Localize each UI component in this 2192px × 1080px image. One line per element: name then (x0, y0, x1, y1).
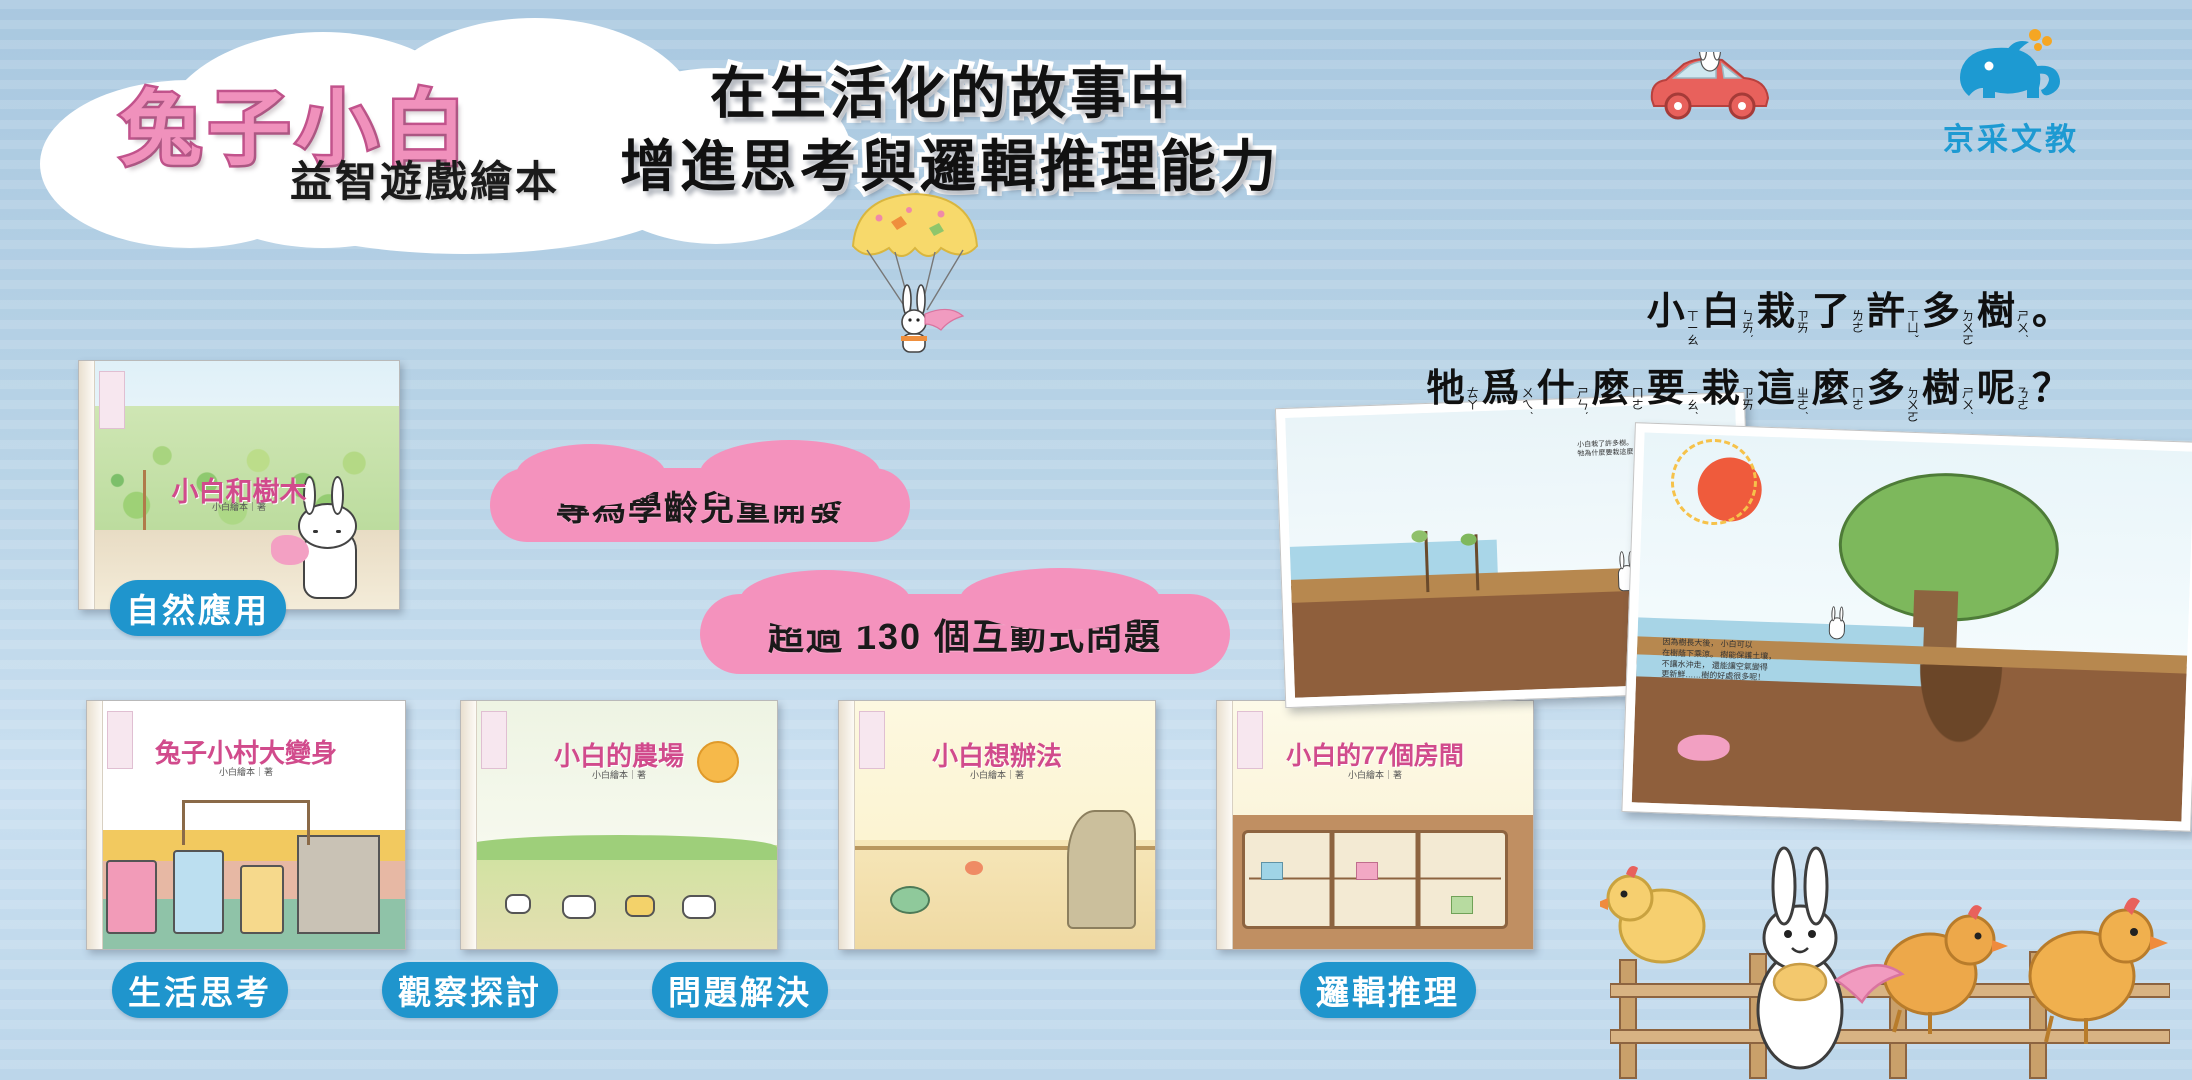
ruby-base: 爲 (1482, 370, 1520, 408)
badge-farm: 觀察探討 (382, 962, 558, 1018)
feature-bubble-1-label: 專為學齡兒童開發 (556, 481, 844, 530)
ruby-char: ？ (2032, 368, 2070, 410)
zhuyin-annotation: ㄕㄨˋ (2017, 310, 2029, 347)
badge-village: 生活思考 (112, 962, 288, 1018)
chicken-icon (2000, 880, 2170, 1050)
badge-rooms: 邏輯推理 (1300, 962, 1476, 1018)
book-cover-farm[interactable]: 小白的農場 小白繪本｜著 (460, 700, 778, 950)
ruby-char: 樹ㄕㄨˋ (1977, 293, 2029, 351)
ruby-char: 樹ㄕㄨˋ (1922, 370, 1974, 428)
zhuyin-annotation: ㄇㄜ (1852, 387, 1864, 411)
inner-page-caption: 因為樹長大後， 小白可以 在樹蔭下乘涼。 樹能保護土壤， 不讓水沖走， 還能讓空… (1661, 637, 1777, 684)
feature-bubble-1: 專為學齡兒童開發 (490, 468, 910, 542)
book-title: 小白的77個房間 (1217, 736, 1533, 772)
inner-page-art (1632, 433, 2192, 822)
page-subtitle: 益智遊戲繪本 (290, 148, 560, 209)
question-text: 小ㄒㄧㄠ白ㄅㄞˊ栽ㄗㄞ了ㄌㄜ許ㄒㄩˇ多ㄉㄨㄛ樹ㄕㄨˋ。 牠ㄊㄚ爲ㄨㄟˋ什ㄕㄣˊ麼… (1000, 280, 2070, 433)
book-author: 小白繪本｜著 (1217, 768, 1533, 781)
ruby-base: 麼 (1812, 370, 1850, 408)
question-line-2: 牠ㄊㄚ爲ㄨㄟˋ什ㄕㄣˊ麼ㄇㄜ要ㄧㄠˋ栽ㄗㄞ這ㄓㄜˋ麼ㄇㄜ多ㄉㄨㄛ樹ㄕㄨˋ呢ㄋㄜ？ (1000, 357, 2070, 428)
feature-bubble-2: 超過 130 個互動式問題 (700, 594, 1230, 674)
ruby-base: 什 (1537, 370, 1575, 408)
ruby-base: 樹 (1977, 293, 2015, 331)
zhuyin-annotation: ㄒㄩˇ (1907, 310, 1919, 347)
zhuyin-annotation: ㄨㄟˋ (1522, 387, 1534, 424)
ruby-base: 樹 (1922, 370, 1960, 408)
book-author: 小白繪本｜著 (79, 500, 399, 513)
ruby-char: 麼ㄇㄜ (1592, 370, 1644, 415)
ruby-base: 白 (1702, 293, 1740, 331)
promotional-banner: 兔子小白 益智遊戲繪本 在生活化的故事中 增進思考與邏輯推理能力 京采文教 (0, 0, 2192, 1080)
ruby-char: 呢ㄋㄜ (1977, 370, 2029, 415)
ruby-base: 栽 (1757, 293, 1795, 331)
ruby-char: 白ㄅㄞˊ (1702, 293, 1754, 351)
ruby-char: 要ㄧㄠˋ (1647, 370, 1699, 428)
zhuyin-annotation: ㄇㄜ (1632, 387, 1644, 411)
zhuyin-annotation: ㄊㄚ (1467, 387, 1479, 411)
ruby-base: 麼 (1592, 370, 1630, 408)
question-line-1: 小ㄒㄧㄠ白ㄅㄞˊ栽ㄗㄞ了ㄌㄜ許ㄒㄩˇ多ㄉㄨㄛ樹ㄕㄨˋ。 (1000, 280, 2070, 351)
ruby-char: 多ㄉㄨㄛ (1867, 370, 1919, 428)
zhuyin-annotation: ㄌㄜ (1852, 310, 1864, 334)
zhuyin-annotation: ㄓㄜˋ (1797, 387, 1809, 424)
ruby-char: 這ㄓㄜˋ (1757, 370, 1809, 428)
elephant-logo-icon (1949, 26, 2073, 110)
zhuyin-annotation: ㄒㄧㄠ (1687, 310, 1699, 347)
badge-idea: 問題解決 (652, 962, 828, 1018)
red-car-icon (1640, 52, 1780, 122)
badge-nature-label: 自然應用 (126, 584, 270, 632)
book-author: 小白繪本｜著 (839, 768, 1155, 781)
ruby-base: 牠 (1427, 370, 1465, 408)
zhuyin-annotation: ㄕㄨˋ (1962, 387, 1974, 424)
ruby-base: 許 (1867, 293, 1905, 331)
rabbit-icon (1700, 830, 1960, 1080)
book-author: 小白繪本｜著 (87, 765, 405, 778)
ruby-char: 。 (2032, 291, 2070, 333)
ruby-char: 什ㄕㄣˊ (1537, 370, 1589, 428)
ruby-base: 多 (1867, 370, 1905, 408)
ruby-base: 了 (1812, 293, 1850, 331)
badge-idea-label: 問題解決 (668, 966, 812, 1014)
ruby-char: 麼ㄇㄜ (1812, 370, 1864, 415)
zhuyin-annotation: ㄋㄜ (2017, 387, 2029, 411)
ruby-base: 多 (1922, 293, 1960, 331)
ruby-char: 了ㄌㄜ (1812, 293, 1864, 338)
ruby-base: 栽 (1702, 370, 1740, 408)
book-cover-village[interactable]: 兔子小村大變身 小白繪本｜著 (86, 700, 406, 950)
brand-logo: 京采文教 (1916, 26, 2106, 159)
title-block: 兔子小白 益智遊戲繪本 (50, 52, 850, 242)
badge-village-label: 生活思考 (128, 966, 272, 1014)
zhuyin-annotation: ㄕㄣˊ (1577, 387, 1589, 424)
ruby-char: 爲ㄨㄟˋ (1482, 370, 1534, 428)
ruby-base: 小 (1647, 293, 1685, 331)
ruby-base: 呢 (1977, 370, 2015, 408)
ruby-char: 許ㄒㄩˇ (1867, 293, 1919, 351)
book-author: 小白繪本｜著 (461, 768, 777, 781)
ruby-base: 要 (1647, 370, 1685, 408)
ruby-char: 牠ㄊㄚ (1427, 370, 1479, 415)
zhuyin-annotation: ㄗㄞ (1797, 310, 1809, 334)
parachute-rabbit-icon (845, 188, 985, 358)
zhuyin-annotation: ㄅㄞˊ (1742, 310, 1754, 347)
zhuyin-annotation: ㄉㄨㄛ (1962, 310, 1974, 347)
badge-nature: 自然應用 (110, 580, 286, 636)
zhuyin-annotation: ㄗㄞ (1742, 387, 1754, 411)
ruby-base: 這 (1757, 370, 1795, 408)
ruby-char: 栽ㄗㄞ (1757, 293, 1809, 338)
ruby-char: 栽ㄗㄞ (1702, 370, 1754, 415)
ruby-char: 多ㄉㄨㄛ (1922, 293, 1974, 351)
book-cover-nature[interactable]: 小白和樹木 小白繪本｜著 (78, 360, 400, 610)
zhuyin-annotation: ㄉㄨㄛ (1907, 387, 1919, 424)
zhuyin-annotation: ㄧㄠˋ (1687, 387, 1699, 424)
brand-name: 京采文教 (1916, 114, 2106, 159)
inner-page-tree[interactable]: 因為樹長大後， 小白可以 在樹蔭下乘涼。 樹能保護土壤， 不讓水沖走， 還能讓空… (1621, 422, 2192, 832)
ruby-char: 小ㄒㄧㄠ (1647, 293, 1699, 351)
book-cover-idea[interactable]: 小白想辦法 小白繪本｜著 (838, 700, 1156, 950)
book-cover-rooms[interactable]: 小白的77個房間 小白繪本｜著 (1216, 700, 1534, 950)
feature-bubble-2-label: 超過 130 個互動式問題 (768, 608, 1162, 660)
badge-rooms-label: 邏輯推理 (1316, 966, 1460, 1014)
badge-farm-label: 觀察探討 (398, 966, 542, 1014)
